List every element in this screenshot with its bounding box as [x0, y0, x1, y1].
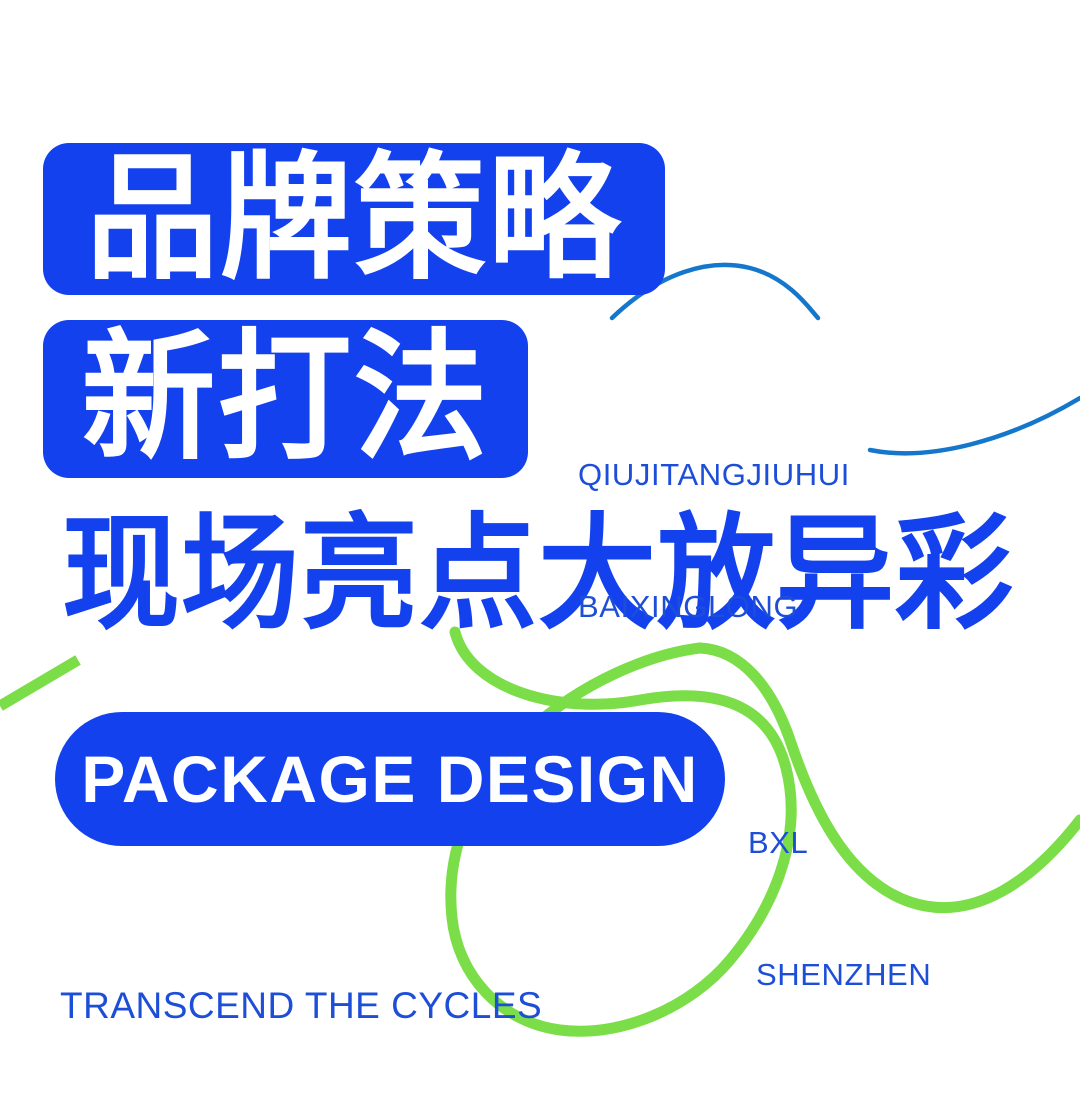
new-method-box: 新打法	[43, 320, 528, 478]
poster-canvas: 品牌策略 新打法 QIUJITANGJIUHUI BAIXINGLONG 现场亮…	[0, 0, 1080, 1112]
pinyin-line-2: BAIXINGLONG	[578, 585, 850, 629]
brand-strategy-text: 品牌策略	[86, 150, 622, 287]
brand-strategy-box: 品牌策略	[43, 143, 665, 295]
page-headline: 现场亮点大放异彩	[62, 512, 992, 637]
city-line-2: SHENZHEN	[748, 953, 931, 997]
package-design-label: PACKAGE DESIGN	[81, 746, 699, 812]
city-line-1: BXL	[748, 821, 931, 865]
pinyin-block: QIUJITANGJIUHUI BAIXINGLONG	[578, 365, 850, 717]
tagline-line-1: TRANSCEND THE CYCLES	[60, 983, 542, 1029]
package-design-pill[interactable]: PACKAGE DESIGN	[55, 712, 725, 846]
city-block: BXL SHENZHEN	[748, 733, 931, 1085]
tagline-block: TRANSCEND THE CYCLES REBORN INTO THE NEW	[60, 890, 542, 1112]
new-method-text: 新打法	[81, 329, 489, 470]
pinyin-line-1: QIUJITANGJIUHUI	[578, 453, 850, 497]
